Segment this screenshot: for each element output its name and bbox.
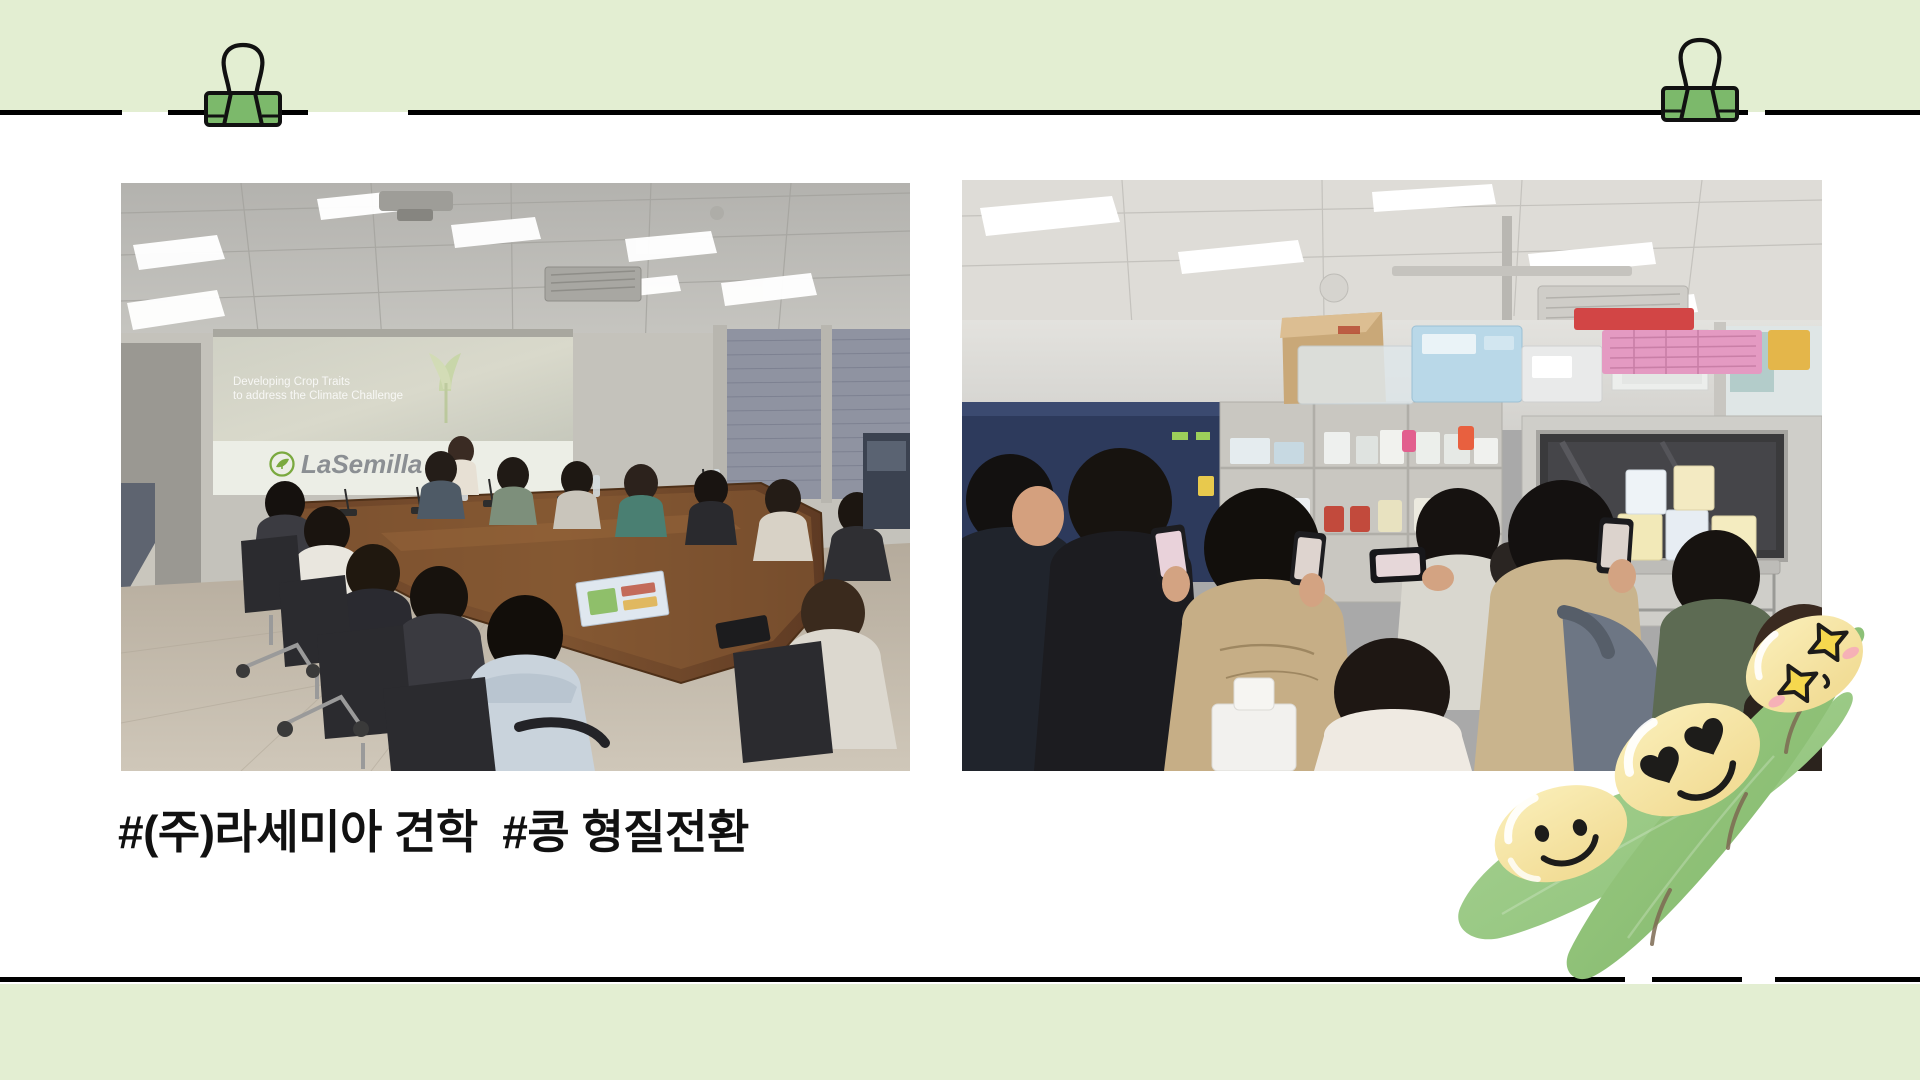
lasemilla-brand: LaSemilla (301, 449, 422, 479)
slide-canvas: Developing Crop Traits to address the Cl… (0, 0, 1920, 1080)
binder-clip-left-icon (200, 37, 286, 134)
top-green-band (0, 0, 1920, 112)
top-rule-segment-4 (408, 110, 1710, 115)
screen-title-line2: to address the Climate Challenge (233, 390, 403, 402)
bottom-rule-segment-2 (1652, 977, 1742, 982)
bottom-green-band (0, 984, 1920, 1080)
caption-text: #(주)라세미아 견학 #콩 형질전환 (118, 806, 749, 859)
bottom-rule-segment-3 (1775, 977, 1920, 982)
photo-seminar-room: Developing Crop Traits to address the Cl… (121, 183, 910, 771)
top-rule-segment-6 (1765, 110, 1920, 115)
pod-seam-2 (1728, 794, 1746, 848)
bean-smiley (1482, 769, 1640, 899)
bottom-rule-segment-1 (0, 977, 1625, 982)
screen-title-line1: Developing Crop Traits (233, 376, 350, 388)
photo-laboratory-tour (962, 180, 1822, 771)
binder-clip-right-icon (1657, 32, 1743, 129)
pod-seam-3 (1652, 890, 1670, 944)
top-rule-segment-1 (0, 110, 122, 115)
